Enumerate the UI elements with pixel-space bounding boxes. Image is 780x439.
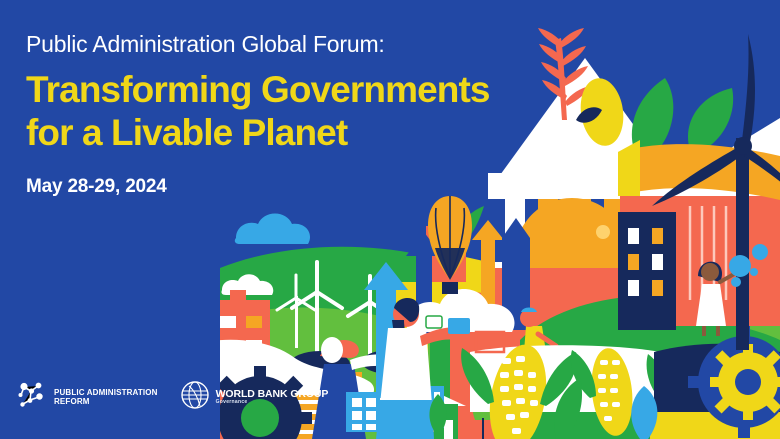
headline-block: Public Administration Global Forum: Tran… — [26, 30, 496, 198]
headline-line-1: Transforming Governments — [26, 69, 490, 110]
event-banner: Public Administration Global Forum: Tran… — [0, 0, 780, 439]
event-date: May 28-29, 2024 — [26, 176, 496, 198]
logo-public-administration-reform[interactable]: PUBLIC ADMINISTRATION REFORM — [14, 378, 158, 417]
page-title: Transforming Governments for a Livable P… — [26, 68, 496, 155]
logo-label-world-bank-group: WORLD BANK GROUP Governance — [216, 389, 329, 406]
logo-line-2: REFORM — [54, 398, 158, 407]
logo-line-2: Governance — [216, 400, 329, 405]
logo-label-public-administration-reform: PUBLIC ADMINISTRATION REFORM — [54, 389, 158, 406]
network-nodes-icon — [14, 378, 48, 417]
eyebrow-text: Public Administration Global Forum: — [26, 30, 496, 59]
globe-icon — [180, 380, 210, 415]
logo-world-bank-group[interactable]: WORLD BANK GROUP Governance — [180, 380, 329, 415]
headline-line-2: for a Livable Planet — [26, 111, 496, 154]
logo-bar: PUBLIC ADMINISTRATION REFORM WORLD BANK … — [14, 378, 328, 417]
